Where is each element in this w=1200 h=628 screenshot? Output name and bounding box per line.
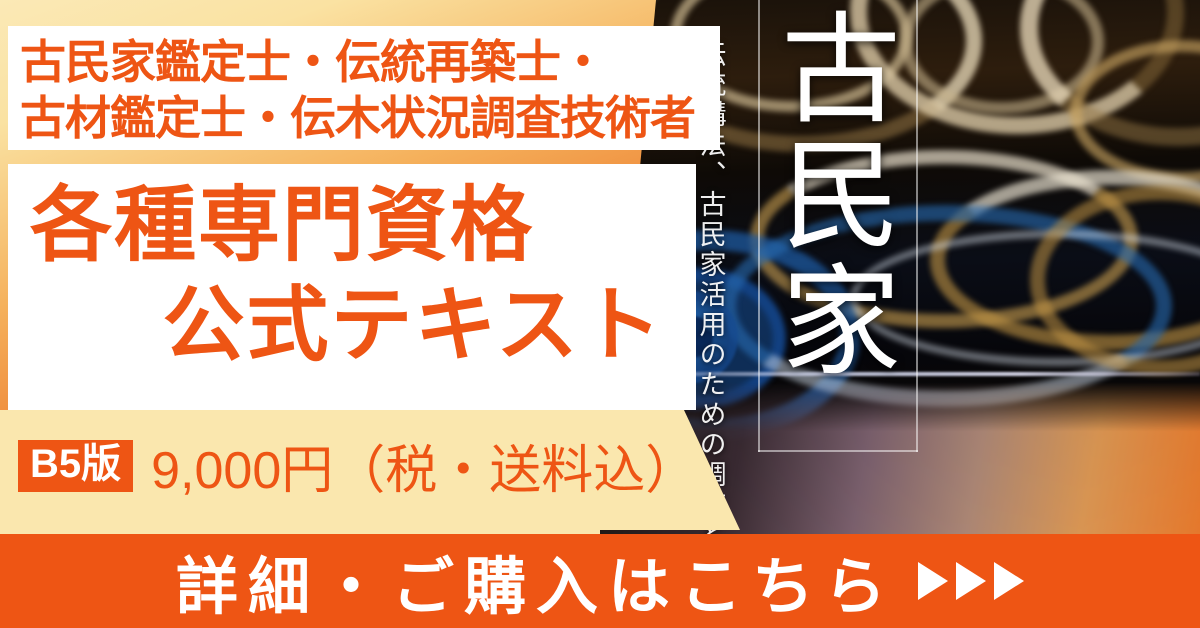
cover-title: 古民家 (776, 6, 900, 384)
triangle-right-icon (918, 562, 948, 600)
main-title-line-2: 公式テキスト (8, 276, 698, 376)
headline: 古民家鑑定士・伝統再築士・ 古材鑑定士・伝木状況調査技術者 (20, 34, 720, 146)
triangle-right-icon (956, 562, 986, 600)
cover-frame-bottom (758, 450, 918, 452)
main-title-line-1: 各種専門資格 (8, 176, 698, 276)
main-title: 各種専門資格 公式テキスト (8, 176, 698, 376)
cta-label: 詳細・ご購入はこちら (176, 536, 896, 626)
price-label: 9,000円（税・送料込） (151, 428, 697, 503)
headline-line-1: 古民家鑑定士・伝統再築士・ (20, 34, 720, 90)
promo-banner: 伝統構法、古民家活用のための調査と再生の 古民家 古民家鑑定士・伝統再築士・ 古… (0, 0, 1200, 628)
format-badge: B5版 (18, 440, 133, 492)
triangle-right-icon (994, 562, 1024, 600)
cta-bar[interactable]: 詳細・ご購入はこちら (0, 534, 1200, 628)
cta-arrows (918, 562, 1024, 600)
headline-line-2: 古材鑑定士・伝木状況調査技術者 (20, 90, 720, 146)
cover-frame-right (916, 0, 918, 452)
price-row: B5版 9,000円（税・送料込） (18, 428, 697, 503)
